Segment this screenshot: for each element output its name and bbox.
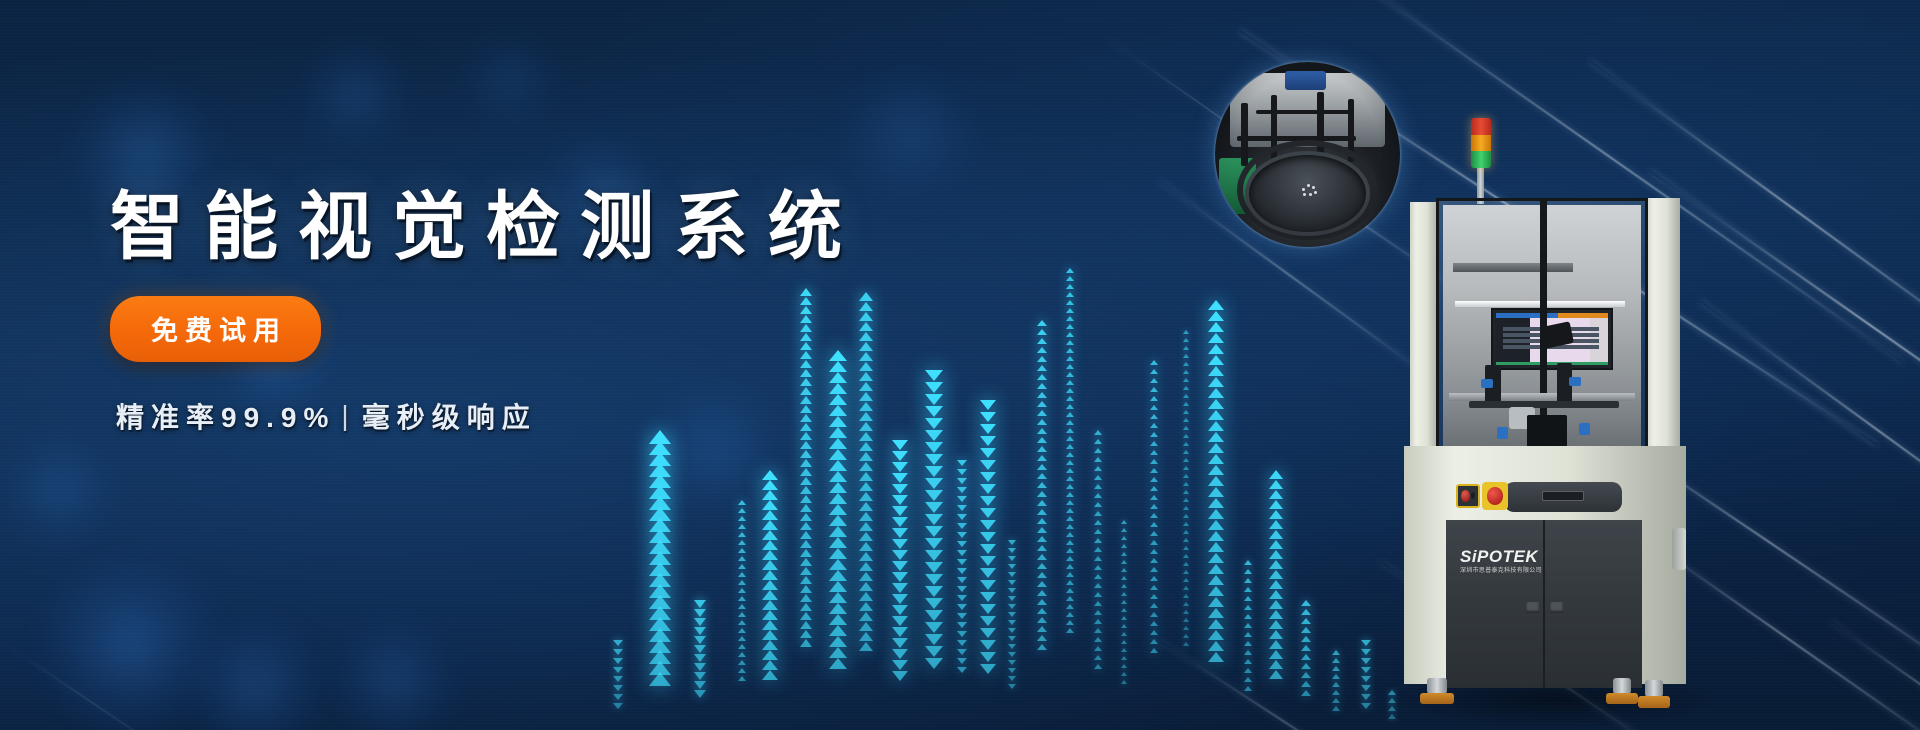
chevron-up-icon bbox=[762, 470, 778, 480]
chevron-up-icon bbox=[1208, 542, 1224, 552]
chevron-up-icon bbox=[1208, 630, 1224, 640]
chevron-up-icon bbox=[1121, 648, 1127, 652]
chevron-down-icon bbox=[925, 514, 943, 525]
chevron-up-icon bbox=[1244, 650, 1252, 655]
chevron-up-icon bbox=[800, 522, 812, 530]
chevron-up-icon bbox=[1037, 599, 1047, 605]
chevron-up-icon bbox=[1208, 344, 1224, 354]
chevron-down-icon bbox=[980, 580, 996, 590]
chevron-down-icon bbox=[957, 559, 967, 565]
chevron-up-icon bbox=[859, 572, 873, 581]
chevron-up-icon bbox=[1037, 365, 1047, 371]
chevron-down-icon bbox=[957, 523, 967, 529]
chevron-up-icon bbox=[649, 474, 671, 488]
chevron-up-icon bbox=[649, 606, 671, 620]
chevron-up-icon bbox=[1183, 514, 1189, 518]
chevron-down-icon bbox=[613, 667, 623, 673]
chevron-up-icon bbox=[1094, 583, 1102, 588]
chevron-down-column bbox=[980, 400, 996, 676]
chevron-up-icon bbox=[738, 508, 746, 513]
chevron-up-icon bbox=[1066, 604, 1074, 609]
chevron-up-icon bbox=[1121, 664, 1127, 668]
chevron-up-icon bbox=[762, 590, 778, 600]
cabinet-door-handle[interactable] bbox=[1526, 602, 1539, 613]
chevron-up-icon bbox=[1150, 585, 1158, 590]
chevron-up-icon bbox=[762, 510, 778, 520]
chevron-up-icon bbox=[1066, 588, 1074, 593]
chevron-down-icon bbox=[892, 638, 908, 648]
machine-monitor bbox=[1491, 308, 1613, 370]
chevron-up-icon bbox=[1244, 569, 1252, 574]
chevron-up-icon bbox=[1150, 549, 1158, 554]
chevron-up-icon bbox=[1208, 432, 1224, 442]
screen-titlebar-left bbox=[1496, 313, 1558, 318]
chevron-up-icon bbox=[1269, 630, 1283, 639]
chevron-down-icon bbox=[980, 496, 996, 506]
chevron-up-icon bbox=[738, 652, 746, 657]
chevron-up-icon bbox=[859, 492, 873, 501]
stack-light-icon bbox=[1471, 118, 1491, 168]
chevron-up-icon bbox=[1208, 421, 1224, 431]
chevron-up-icon bbox=[1066, 556, 1074, 561]
chevron-up-icon bbox=[1183, 418, 1189, 422]
chevron-up-icon bbox=[1066, 380, 1074, 385]
chevron-up-icon bbox=[1094, 646, 1102, 651]
chevron-up-icon bbox=[1037, 572, 1047, 578]
chevron-up-column bbox=[1121, 520, 1127, 688]
chevron-up-icon bbox=[1066, 404, 1074, 409]
chevron-up-icon bbox=[1269, 540, 1283, 549]
chevron-down-icon bbox=[892, 649, 908, 659]
chevron-up-icon bbox=[1269, 480, 1283, 489]
chevron-up-icon bbox=[1037, 446, 1047, 452]
chevron-down-icon bbox=[892, 484, 908, 494]
chevron-up-icon bbox=[762, 560, 778, 570]
chevron-up-icon bbox=[1066, 388, 1074, 393]
chevron-up-icon bbox=[1066, 308, 1074, 313]
light-streak bbox=[1160, 640, 1412, 730]
chevron-down-icon bbox=[694, 690, 706, 698]
foot-stem bbox=[1645, 680, 1663, 697]
chevron-down-icon bbox=[925, 370, 943, 381]
chevron-down-column bbox=[957, 460, 967, 676]
chevron-up-icon bbox=[1269, 620, 1283, 629]
machine-camera-connector bbox=[1569, 377, 1581, 386]
hero-copy-block: 智能视觉检测系统 免费试用 精准率99.9% | 毫秒级响应 bbox=[110, 190, 862, 436]
chevron-up-icon bbox=[1094, 601, 1102, 606]
chevron-up-column bbox=[1269, 470, 1283, 680]
chevron-down-icon bbox=[925, 622, 943, 633]
chevron-up-icon bbox=[1094, 511, 1102, 516]
chevron-up-icon bbox=[1183, 562, 1189, 566]
chevron-down-icon bbox=[925, 466, 943, 477]
chevron-up-icon bbox=[1066, 436, 1074, 441]
chevron-up-icon bbox=[1094, 610, 1102, 615]
chevron-up-icon bbox=[649, 540, 671, 554]
chevron-up-icon bbox=[1094, 520, 1102, 525]
chevron-up-icon bbox=[1269, 560, 1283, 569]
emergency-stop-button[interactable] bbox=[1487, 487, 1503, 504]
chevron-up-icon bbox=[1183, 338, 1189, 342]
chevron-up-icon bbox=[1244, 560, 1252, 565]
chevron-up-icon bbox=[1183, 442, 1189, 446]
chevron-down-icon bbox=[925, 610, 943, 621]
machine-control-panel[interactable] bbox=[1504, 482, 1622, 512]
chevron-up-icon bbox=[1037, 464, 1047, 470]
chevron-up-icon bbox=[1037, 356, 1047, 362]
chevron-up-icon bbox=[829, 537, 847, 548]
chevron-up-icon bbox=[649, 617, 671, 631]
chevron-up-icon bbox=[1269, 530, 1283, 539]
chevron-down-icon bbox=[980, 484, 996, 494]
chevron-up-icon bbox=[1150, 441, 1158, 446]
chevron-up-icon bbox=[1037, 608, 1047, 614]
chevron-down-column bbox=[892, 440, 908, 682]
chevron-up-icon bbox=[1244, 686, 1252, 691]
photo-vignette bbox=[1215, 62, 1400, 247]
chevron-down-icon bbox=[980, 448, 996, 458]
chevron-up-icon bbox=[1150, 531, 1158, 536]
chevron-up-icon bbox=[1066, 524, 1074, 529]
machine-switch-box[interactable] bbox=[1456, 484, 1480, 508]
chevron-up-icon bbox=[1269, 520, 1283, 529]
chevron-up-icon bbox=[1094, 565, 1102, 570]
chevron-up-icon bbox=[1183, 330, 1189, 334]
chevron-up-icon bbox=[1183, 386, 1189, 390]
chevron-up-icon bbox=[738, 676, 746, 681]
chevron-up-icon bbox=[1183, 458, 1189, 462]
screen-titlebar-right bbox=[1558, 313, 1608, 318]
chevron-down-icon bbox=[892, 583, 908, 593]
chevron-up-icon bbox=[800, 603, 812, 611]
foot-stem bbox=[1613, 678, 1631, 694]
chevron-up-icon bbox=[738, 668, 746, 673]
chevron-up-icon bbox=[859, 542, 873, 551]
chevron-down-icon bbox=[892, 528, 908, 538]
bokeh-glow bbox=[30, 560, 230, 730]
chevron-down-icon bbox=[1008, 540, 1016, 545]
machine-side-handle[interactable] bbox=[1672, 528, 1686, 570]
chevron-up-icon bbox=[738, 612, 746, 617]
chevron-up-icon bbox=[1121, 568, 1127, 572]
chevron-down-icon bbox=[613, 694, 623, 700]
chevron-up-icon bbox=[1301, 636, 1311, 642]
logo-wordmark: SiPOTEK bbox=[1460, 548, 1542, 565]
free-trial-button[interactable]: 免费试用 bbox=[110, 296, 321, 362]
chevron-up-icon bbox=[1066, 372, 1074, 377]
chevron-up-icon bbox=[800, 612, 812, 620]
chevron-up-icon bbox=[1332, 674, 1340, 679]
chevron-up-icon bbox=[1121, 528, 1127, 532]
chevron-down-icon bbox=[1008, 588, 1016, 593]
chevron-up-column bbox=[1244, 560, 1252, 695]
chevron-down-icon bbox=[1361, 640, 1371, 646]
chevron-up-icon bbox=[1208, 465, 1224, 475]
chevron-up-icon bbox=[829, 658, 847, 669]
chevron-up-icon bbox=[649, 628, 671, 642]
chevron-down-icon bbox=[892, 539, 908, 549]
chevron-up-icon bbox=[1150, 486, 1158, 491]
chevron-down-icon bbox=[1008, 548, 1016, 553]
chevron-up-icon bbox=[1094, 475, 1102, 480]
chevron-down-icon bbox=[925, 526, 943, 537]
chevron-up-icon bbox=[859, 592, 873, 601]
chevron-down-icon bbox=[957, 532, 967, 538]
chevron-up-icon bbox=[738, 644, 746, 649]
chevron-up-icon bbox=[1301, 627, 1311, 633]
chevron-down-icon bbox=[1361, 658, 1371, 664]
chevron-down-icon bbox=[892, 627, 908, 637]
chevron-up-icon bbox=[829, 647, 847, 658]
chevron-up-column bbox=[1066, 268, 1074, 636]
chevron-up-icon bbox=[1150, 387, 1158, 392]
chevron-up-icon bbox=[649, 672, 671, 686]
chevron-up-icon bbox=[800, 630, 812, 638]
bokeh-glow bbox=[900, 430, 1020, 540]
chevron-up-icon bbox=[829, 559, 847, 570]
chevron-up-icon bbox=[1183, 530, 1189, 534]
chevron-up-column bbox=[1208, 300, 1224, 663]
chevron-down-icon bbox=[613, 703, 623, 709]
chevron-up-icon bbox=[1388, 706, 1396, 711]
light-streak bbox=[1830, 620, 1920, 730]
chevron-down-icon bbox=[1008, 580, 1016, 585]
chevron-up-icon bbox=[1208, 300, 1224, 310]
chevron-up-icon bbox=[762, 540, 778, 550]
chevron-down-column bbox=[1008, 540, 1016, 692]
chevron-up-icon bbox=[1332, 690, 1340, 695]
chevron-down-icon bbox=[892, 616, 908, 626]
chevron-up-icon bbox=[1208, 509, 1224, 519]
chevron-up-icon bbox=[800, 549, 812, 557]
chevron-up-icon bbox=[800, 621, 812, 629]
chevron-up-icon bbox=[649, 507, 671, 521]
chevron-up-icon bbox=[1208, 575, 1224, 585]
chevron-up-icon bbox=[1208, 366, 1224, 376]
chevron-up-icon bbox=[1066, 452, 1074, 457]
chevron-up-icon bbox=[1037, 626, 1047, 632]
chevron-up-icon bbox=[649, 485, 671, 499]
chevron-down-icon bbox=[957, 496, 967, 502]
page-title: 智能视觉检测系统 bbox=[110, 190, 862, 264]
chevron-up-icon bbox=[859, 552, 873, 561]
chevron-up-icon bbox=[738, 588, 746, 593]
chevron-up-icon bbox=[1183, 354, 1189, 358]
chevron-up-icon bbox=[1066, 548, 1074, 553]
chevron-up-icon bbox=[1150, 558, 1158, 563]
chevron-up-icon bbox=[1094, 619, 1102, 624]
chevron-up-icon bbox=[1066, 292, 1074, 297]
chevron-up-icon bbox=[1037, 527, 1047, 533]
machine-right-column bbox=[1646, 198, 1680, 450]
machine-leveling-foot bbox=[1638, 680, 1670, 708]
chevron-up-icon bbox=[829, 614, 847, 625]
chevron-down-icon bbox=[980, 412, 996, 422]
chevron-down-column bbox=[694, 600, 706, 699]
chevron-up-icon bbox=[829, 581, 847, 592]
chevron-down-icon bbox=[1008, 596, 1016, 601]
machine-leveling-foot bbox=[1606, 678, 1638, 704]
chevron-up-column bbox=[738, 500, 746, 684]
chevron-up-icon bbox=[1269, 670, 1283, 679]
chevron-up-icon bbox=[1121, 624, 1127, 628]
emergency-stop-icon[interactable] bbox=[1482, 482, 1508, 510]
chevron-up-icon bbox=[1269, 510, 1283, 519]
chevron-up-icon bbox=[1066, 364, 1074, 369]
chevron-up-icon bbox=[1332, 682, 1340, 687]
chevron-up-icon bbox=[738, 628, 746, 633]
chevron-up-icon bbox=[1208, 399, 1224, 409]
chevron-up-icon bbox=[1121, 552, 1127, 556]
chevron-up-icon bbox=[1301, 654, 1311, 660]
chevron-up-icon bbox=[1208, 553, 1224, 563]
chevron-up-icon bbox=[1037, 338, 1047, 344]
chevron-down-icon bbox=[980, 556, 996, 566]
chevron-down-icon bbox=[957, 613, 967, 619]
chevron-up-icon bbox=[1037, 617, 1047, 623]
chevron-up-icon bbox=[1150, 405, 1158, 410]
chevron-down-icon bbox=[925, 442, 943, 453]
chevron-up-icon bbox=[1301, 645, 1311, 651]
chevron-down-icon bbox=[1361, 667, 1371, 673]
chevron-down-icon bbox=[980, 508, 996, 518]
chevron-up-icon bbox=[829, 493, 847, 504]
chevron-up-icon bbox=[1150, 576, 1158, 581]
chevron-up-icon bbox=[762, 570, 778, 580]
chevron-up-icon bbox=[1269, 650, 1283, 659]
chevron-up-icon bbox=[800, 486, 812, 494]
selector-knob-icon[interactable] bbox=[1461, 490, 1470, 503]
chevron-up-icon bbox=[1121, 680, 1127, 684]
chevron-up-icon bbox=[1208, 619, 1224, 629]
chevron-up-icon bbox=[1066, 460, 1074, 465]
chevron-down-icon bbox=[957, 487, 967, 493]
chevron-up-icon bbox=[738, 524, 746, 529]
chevron-up-icon bbox=[1094, 493, 1102, 498]
chevron-down-icon bbox=[925, 634, 943, 645]
chevron-down-icon bbox=[892, 495, 908, 505]
chevron-up-icon bbox=[859, 642, 873, 651]
chevron-down-icon bbox=[980, 568, 996, 578]
chevron-up-icon bbox=[1388, 714, 1396, 719]
chevron-down-icon bbox=[980, 616, 996, 626]
foot-pad bbox=[1638, 696, 1670, 708]
chevron-down-icon bbox=[957, 622, 967, 628]
chevron-down-icon bbox=[980, 436, 996, 446]
chevron-up-icon bbox=[829, 570, 847, 581]
chevron-up-icon bbox=[1037, 518, 1047, 524]
chevron-down-icon bbox=[980, 532, 996, 542]
chevron-up-icon bbox=[1121, 560, 1127, 564]
chevron-up-icon bbox=[1244, 578, 1252, 583]
machine-top-rail bbox=[1453, 263, 1573, 272]
chevron-up-icon bbox=[1150, 648, 1158, 653]
chevron-up-icon bbox=[829, 460, 847, 471]
chevron-down-icon bbox=[980, 460, 996, 470]
chevron-down-icon bbox=[980, 664, 996, 674]
chevron-up-icon bbox=[829, 625, 847, 636]
machine-camera-connector bbox=[1481, 379, 1493, 388]
chevron-up-icon bbox=[1037, 554, 1047, 560]
chevron-up-icon bbox=[1183, 434, 1189, 438]
chevron-up-icon bbox=[1066, 396, 1074, 401]
chevron-down-icon bbox=[957, 658, 967, 664]
chevron-up-icon bbox=[1208, 597, 1224, 607]
chevron-up-column bbox=[1332, 650, 1340, 714]
chevron-up-icon bbox=[1183, 554, 1189, 558]
chevron-down-icon bbox=[892, 594, 908, 604]
machine-work-surface bbox=[1449, 393, 1635, 401]
chevron-up-icon bbox=[1066, 572, 1074, 577]
chevron-down-icon bbox=[1361, 694, 1371, 700]
chevron-up-icon bbox=[829, 449, 847, 460]
chevron-up-icon bbox=[1301, 681, 1311, 687]
chevron-down-icon bbox=[925, 562, 943, 573]
chevron-up-icon bbox=[762, 650, 778, 660]
chevron-up-icon bbox=[1183, 506, 1189, 510]
chevron-down-icon bbox=[957, 541, 967, 547]
chevron-up-icon bbox=[1094, 502, 1102, 507]
chevron-up-icon bbox=[1121, 584, 1127, 588]
indicator-led-icon bbox=[1471, 492, 1475, 499]
chevron-up-icon bbox=[1094, 628, 1102, 633]
chevron-up-icon bbox=[1208, 586, 1224, 596]
chevron-down-icon bbox=[613, 649, 623, 655]
chevron-up-icon bbox=[1150, 432, 1158, 437]
cabinet-door-handle[interactable] bbox=[1550, 602, 1563, 613]
chevron-up-icon bbox=[1094, 484, 1102, 489]
chevron-down-icon bbox=[1008, 660, 1016, 665]
chevron-down-icon bbox=[980, 544, 996, 554]
chevron-down-icon bbox=[1361, 703, 1371, 709]
chevron-up-icon bbox=[1269, 580, 1283, 589]
chevron-up-icon bbox=[1183, 482, 1189, 486]
chevron-up-icon bbox=[1244, 605, 1252, 610]
chevron-up-icon bbox=[1269, 610, 1283, 619]
chevron-up-icon bbox=[649, 562, 671, 576]
chevron-down-icon bbox=[1008, 604, 1016, 609]
chevron-up-icon bbox=[1150, 423, 1158, 428]
chevron-up-icon bbox=[1183, 466, 1189, 470]
chevron-up-icon bbox=[829, 603, 847, 614]
chevron-up-icon bbox=[1332, 650, 1340, 655]
chevron-up-icon bbox=[1037, 428, 1047, 434]
chevron-up-icon bbox=[859, 582, 873, 591]
chevron-down-icon bbox=[892, 506, 908, 516]
chevron-up-icon bbox=[1208, 608, 1224, 618]
chevron-down-icon bbox=[694, 618, 706, 626]
chevron-up-column bbox=[1183, 330, 1189, 650]
chevron-up-icon bbox=[1183, 618, 1189, 622]
chevron-up-icon bbox=[649, 452, 671, 466]
chevron-up-icon bbox=[1037, 644, 1047, 650]
chevron-up-icon bbox=[762, 550, 778, 560]
chevron-up-icon bbox=[1094, 448, 1102, 453]
chevron-up-icon bbox=[1332, 698, 1340, 703]
chevron-up-icon bbox=[1150, 360, 1158, 365]
chevron-up-icon bbox=[762, 620, 778, 630]
chevron-down-icon bbox=[925, 418, 943, 429]
machine-cabinet-doors[interactable]: SiPOTEK 深圳市思普泰克科技有限公司 bbox=[1446, 520, 1642, 688]
chevron-up-icon bbox=[1150, 621, 1158, 626]
chevron-up-icon bbox=[649, 529, 671, 543]
chevron-down-icon bbox=[694, 681, 706, 689]
chevron-up-icon bbox=[738, 516, 746, 521]
chevron-down-icon bbox=[925, 502, 943, 513]
chevron-up-icon bbox=[800, 450, 812, 458]
chevron-up-icon bbox=[859, 442, 873, 451]
chevron-up-icon bbox=[1183, 522, 1189, 526]
